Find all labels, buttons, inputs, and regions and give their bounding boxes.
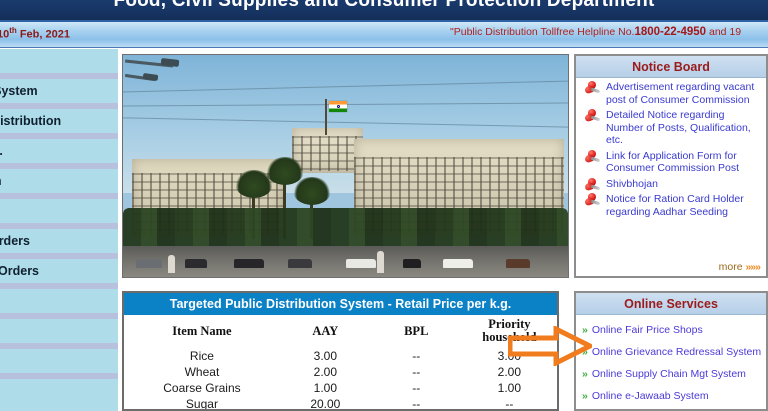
service-link-grievance-redressal[interactable]: »Online Grievance Redressal System [582,345,762,359]
banner-vehicle [234,259,264,268]
chevron-right-icon: » [582,324,588,336]
banner-pedestrian [168,255,175,273]
sidebar-item-blank-1[interactable] [0,199,118,223]
more-label: more [719,261,743,273]
notice-item-label: Detailed Notice regarding Number of Post… [606,109,751,146]
cell-priority: 2.00 [462,364,557,380]
helpline-number: 1800-22-4950 [634,26,706,38]
service-link-label: Online Grievance Redressal System [592,346,761,358]
pushpin-icon [582,81,602,97]
sidebar-item-label: utions/Orders [0,234,30,248]
sidebar-item-blank-3[interactable] [0,379,118,403]
banner-tree-line [123,208,568,246]
online-services-list: »Online Fair Price Shops »Online Grievan… [576,315,766,403]
table-header-row: Item Name AAY BPL Priority household [124,315,557,348]
cell-priority: 1.00 [462,380,557,396]
table-row: Wheat 2.00 -- 2.00 [124,364,557,380]
cell-bpl: -- [371,380,462,396]
table-row: Coarse Grains 1.00 -- 1.00 [124,380,557,396]
current-date: ed, 10th Feb, 2021 [0,26,70,41]
site-title-bar: Food, Civil Supplies and Consumer Protec… [0,0,768,22]
notice-item[interactable]: Link for Application Form for Consumer C… [580,150,762,175]
cell-item-name: Wheat [124,364,280,380]
sidebar-item-technology-org[interactable]: logy Org. [0,139,118,163]
column-header-priority-line2: household [482,330,536,344]
notice-item-label: Link for Application Form for Consumer C… [606,150,739,175]
cell-aay: 20.00 [280,396,371,411]
column-header-item-name: Item Name [124,315,280,348]
service-link-supply-chain-mgt[interactable]: »Online Supply Chain Mgt System [582,367,762,381]
cell-aay: 1.00 [280,380,371,396]
sidebar-item-label: rotection [0,174,1,188]
banner-pedestrian [377,251,384,273]
banner-flag-pole [325,99,327,135]
info-strip: ed, 10th Feb, 2021 "Public Distribution … [0,22,768,48]
sidebar-item-jawaab[interactable]: ay [0,349,118,373]
sidebar-item-label: cy Portal [0,294,1,308]
double-chevron-right-icon: »»» [745,261,760,273]
chevron-right-icon: » [582,368,588,380]
banner-vehicle [288,259,312,268]
notice-item[interactable]: Detailed Notice regarding Number of Post… [580,109,762,147]
sidebar-item-label: logy Org. [0,144,3,158]
banner-vehicle [136,259,162,268]
cell-aay: 2.00 [280,364,371,380]
sidebar-item-label: ibution System [0,84,38,98]
cell-bpl: -- [371,396,462,411]
sidebar-item-judicial-orders[interactable]: Judicial Orders [0,259,118,283]
page-root: Food, Civil Supplies and Consumer Protec… [0,0,768,411]
online-services-heading: Online Services [576,293,766,315]
online-services-panel: Online Services »Online Fair Price Shops… [574,291,768,411]
notice-board-panel: Notice Board Advertisement regarding vac… [574,54,768,278]
notice-item[interactable]: Shivbhojan [580,178,762,191]
page-title: Food, Civil Supplies and Consumer Protec… [0,0,768,16]
column-header-aay: AAY [280,315,371,348]
notice-board-list: Advertisement regarding vacant post of C… [576,78,766,218]
column-header-priority-line1: Priority [488,317,530,331]
service-link-label: Online Fair Price Shops [592,324,703,336]
cell-item-name: Rice [124,348,280,364]
cell-item-name: Coarse Grains [124,380,280,396]
sidebar-item-policy-portal[interactable]: cy Portal [0,289,118,313]
sidebar-item-resolutions-orders[interactable]: utions/Orders [0,229,118,253]
sidebar-item-label: Judicial Orders [0,264,39,278]
pds-price-table: Item Name AAY BPL Priority household Ric… [124,315,557,411]
pushpin-icon [582,178,602,194]
indian-flag-icon [329,101,347,112]
banner-vehicle [443,259,473,268]
sidebar-nav: rtment ibution System fting & Distributi… [0,49,120,411]
service-link-label: Online e-Jawaab System [592,390,709,402]
banner-photo-mantralaya [122,54,569,278]
pushpin-icon [582,150,602,166]
notice-item-label: Advertisement regarding vacant post of C… [606,81,754,106]
table-row: Sugar 20.00 -- -- [124,396,557,411]
banner-vehicle [346,259,376,268]
chevron-right-icon: » [582,346,588,358]
chevron-right-icon: » [582,390,588,402]
pushpin-icon [582,193,602,209]
pushpin-icon [582,109,602,125]
notice-board-more-link[interactable]: more »»» [719,261,760,273]
pds-price-table-panel: Targeted Public Distribution System - Re… [122,291,559,411]
column-header-bpl: BPL [371,315,462,348]
cell-item-name: Sugar [124,396,280,411]
notice-item-label: Notice for Ration Card Holder regarding … [606,193,744,218]
sidebar-item-department[interactable]: rtment [0,49,118,73]
pds-table-heading: Targeted Public Distribution System - Re… [124,293,557,315]
cell-priority: -- [462,396,557,411]
sidebar-item-blank-2[interactable] [0,319,118,343]
notice-item[interactable]: Notice for Ration Card Holder regarding … [580,193,762,218]
cell-aay: 3.00 [280,348,371,364]
cell-priority: 3.00 [462,348,557,364]
tollfree-helpline-marquee: "Public Distribution Tollfree Helpline N… [450,26,741,38]
notice-board-heading: Notice Board [576,56,766,78]
service-link-fair-price-shops[interactable]: »Online Fair Price Shops [582,323,762,337]
service-link-e-jawaab[interactable]: »Online e-Jawaab System [582,389,762,403]
service-link-label: Online Supply Chain Mgt System [592,368,746,380]
banner-vehicle [403,259,421,268]
sidebar-item-lifting-distribution[interactable]: fting & Distribution [0,109,118,133]
banner-vehicle [506,259,530,268]
banner-vehicle [185,259,207,268]
table-row: Rice 3.00 -- 3.00 [124,348,557,364]
column-header-priority-household: Priority household [462,315,557,348]
cell-bpl: -- [371,364,462,380]
notice-item[interactable]: Advertisement regarding vacant post of C… [580,81,762,106]
main-content: Targeted Public Distribution System - Re… [122,49,768,411]
sidebar-item-label: fting & Distribution [0,114,61,128]
cell-bpl: -- [371,348,462,364]
banner-street-lamp [125,57,185,91]
notice-item-label: Shivbhojan [606,178,658,190]
sidebar-item-consumer-protection[interactable]: rotection [0,169,118,193]
sidebar-item-distribution-system[interactable]: ibution System [0,79,118,103]
